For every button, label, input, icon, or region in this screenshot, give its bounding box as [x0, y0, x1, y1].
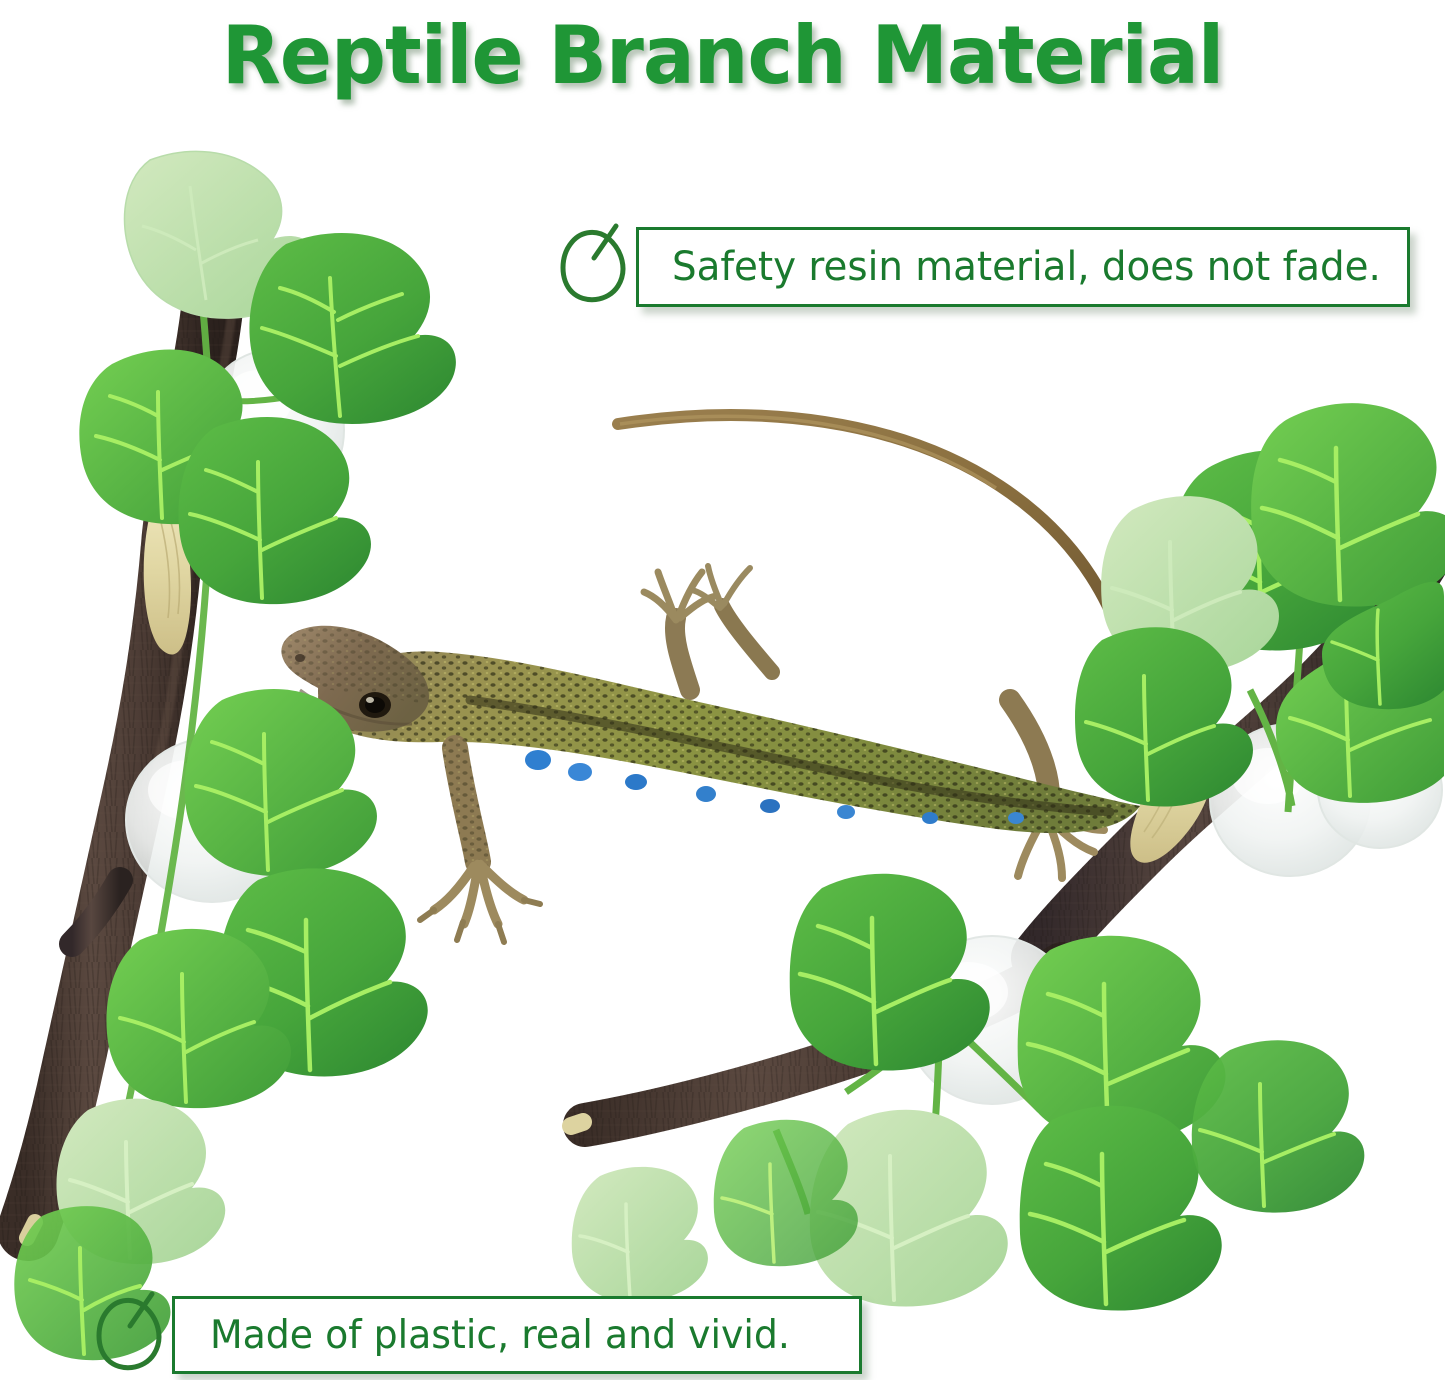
lizard-fore-leg-far — [692, 566, 772, 672]
lizard — [281, 415, 1140, 942]
ivy-leaf — [1192, 1040, 1365, 1212]
callout-text: Safety resin material, does not fade. — [672, 245, 1381, 289]
ivy-leaf — [1251, 403, 1445, 606]
callout-box: Made of plastic, real and vivid. — [172, 1296, 862, 1374]
lizard-eye — [359, 692, 391, 718]
callout-text: Made of plastic, real and vivid. — [210, 1314, 790, 1357]
callout-box: Safety resin material, does not fade. — [636, 227, 1410, 307]
lizard-front-left-leg — [420, 748, 540, 942]
product-image-canvas: Reptile Branch Material — [0, 0, 1445, 1379]
ivy-vine — [1192, 1040, 1365, 1212]
callout-safety-resin: Safety resin material, does not fade. — [556, 222, 1410, 312]
ivy-leaf — [572, 1167, 708, 1302]
leaf-icon — [556, 222, 636, 312]
callout-made-of-plastic: Made of plastic, real and vivid. — [92, 1290, 862, 1380]
ivy-leaf — [249, 233, 455, 424]
lizard-fore-leg — [644, 572, 716, 690]
product-photo — [0, 0, 1445, 1379]
ivy-leaf — [714, 1120, 858, 1267]
ivy-leaf — [1020, 1106, 1222, 1311]
leaf-icon — [92, 1290, 172, 1380]
